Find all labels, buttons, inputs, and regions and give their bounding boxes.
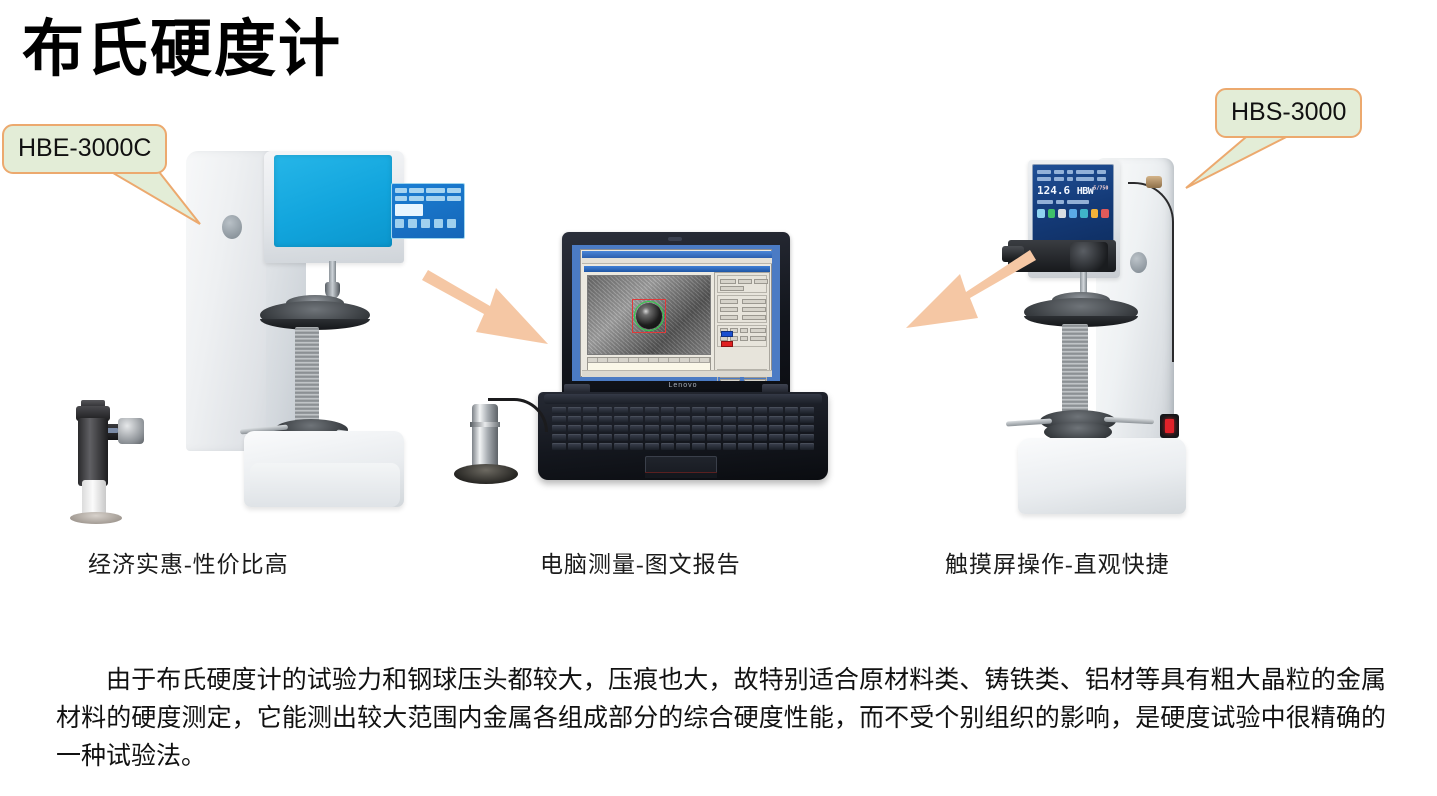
control-group-2 — [717, 295, 767, 323]
hbs-power-switch[interactable] — [1160, 414, 1179, 438]
hbs-readout-value: 124.6 — [1037, 184, 1070, 197]
hbe-lcd-display — [391, 183, 465, 239]
page-title: 布氏硬度计 — [22, 18, 342, 80]
hbs-toolbar-icon-6[interactable] — [1091, 209, 1099, 218]
software-control-panel[interactable] — [714, 272, 770, 375]
figure-usb-digital-microscope — [448, 398, 534, 498]
hbs-hardness-readout: 124.6 HBW5/750 — [1037, 185, 1109, 197]
caption-hbs: 触摸屏操作-直观快捷 — [945, 545, 1170, 579]
hbe-base-front — [250, 463, 400, 507]
hbs-elevating-screw — [1062, 324, 1088, 422]
control-group-1 — [717, 275, 767, 293]
hbs-connector — [1146, 176, 1162, 188]
microscope-base-foot — [70, 512, 122, 524]
callout-hbs-3000[interactable]: HBS-3000 — [1215, 88, 1362, 138]
usb-microscope-band — [470, 422, 500, 427]
callout-tail-hbs — [1186, 128, 1306, 208]
callout-hbs-label: HBS-3000 — [1231, 98, 1346, 126]
callout-hbe-label: HBE-3000C — [18, 134, 151, 162]
figure-portable-microscope — [52, 396, 162, 528]
caption-laptop: 电脑测量-图文报告 — [540, 545, 741, 579]
color-swatch-red[interactable] — [721, 341, 733, 347]
slide-page: 布氏硬度计 — [0, 0, 1437, 796]
hbs-base-block — [1018, 438, 1186, 514]
laptop-brand-logo: Lenovo — [656, 382, 710, 390]
callout-hbe-3000c[interactable]: HBE-3000C — [2, 124, 167, 174]
arrow-left-to-laptop — [420, 248, 620, 368]
hbs-toolbar-icon-1[interactable] — [1037, 209, 1045, 218]
hbs-toolbar-icon-2[interactable] — [1048, 209, 1056, 218]
hbs-readout-unit-sub: 5/750 — [1093, 185, 1108, 191]
laptop-hinge-strip — [544, 394, 822, 404]
hbs-toolbar-icon-5[interactable] — [1080, 209, 1088, 218]
brinell-indentation — [636, 303, 662, 329]
hbs-cable — [1128, 182, 1174, 362]
hbs-microscope-turret[interactable] — [1070, 242, 1108, 272]
laptop-keyboard[interactable] — [552, 407, 814, 455]
hbs-touchscreen[interactable]: 124.6 HBW5/750 — [1032, 164, 1114, 246]
hbs-icon-toolbar[interactable] — [1037, 209, 1109, 218]
laptop-touchpad-buttons[interactable] — [645, 472, 717, 478]
caption-hbe: 经济实惠-性价比高 — [88, 545, 289, 579]
hbs-toolbar-icon-3[interactable] — [1058, 209, 1066, 218]
hbs-toolbar-icon-7[interactable] — [1101, 209, 1109, 218]
software-status-bar — [582, 370, 772, 377]
body-paragraph: 由于布氏硬度计的试验力和钢球压头都较大，压痕也大，故特别适合原材料类、铸铁类、铝… — [56, 662, 1386, 776]
arrow-right-to-laptop — [848, 246, 1038, 366]
microscope-focus-knob[interactable] — [118, 418, 144, 444]
microscope-lens-tube — [82, 480, 106, 516]
color-swatch-blue[interactable] — [721, 331, 733, 337]
usb-microscope-body — [472, 404, 498, 470]
laptop-webcam-icon — [668, 237, 682, 241]
hbs-readout-unit: HBW — [1077, 186, 1094, 197]
microscope-barrel — [78, 418, 108, 486]
hbe-elevating-screw — [295, 327, 319, 431]
callout-tail-hbe — [108, 168, 238, 238]
usb-microscope-base — [454, 464, 518, 484]
hbs-toolbar-icon-4[interactable] — [1069, 209, 1077, 218]
hbe-control-panel[interactable] — [274, 155, 392, 247]
power-indicator-icon — [1165, 419, 1174, 433]
